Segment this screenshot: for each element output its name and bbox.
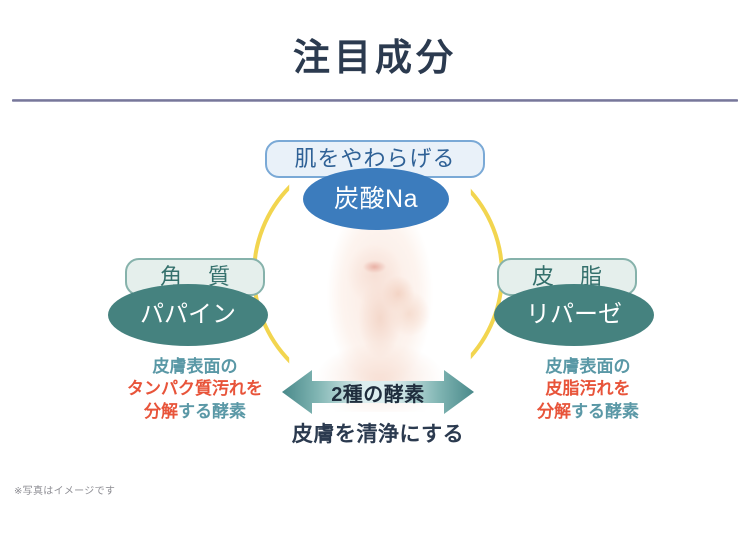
description-left-line2: タンパク質汚れを (105, 378, 285, 400)
description-left-line3-rest: する酵素 (178, 402, 246, 421)
ingredients-diagram: 肌をやわらげる 炭酸Na 角 質 パパイン 皮膚表面の タンパク質汚れを 分解す… (0, 118, 750, 478)
description-right-line1: 皮膚表面の (498, 356, 678, 378)
description-right-line3-highlight: 分解 (537, 402, 571, 421)
description-left-line3-highlight: 分解 (144, 402, 178, 421)
node-lipase: リパーゼ (494, 284, 654, 346)
footnote-photo-image: ※写真はイメージです (14, 482, 115, 497)
slide-canvas: 注目成分 肌をやわらげる 炭酸Na 角 質 パパイン 皮膚表面の タンパク質汚れ… (0, 0, 750, 534)
node-papain: パパイン (108, 284, 268, 346)
description-right-line3: 分解する酵素 (498, 401, 678, 423)
description-left-line1: 皮膚表面の (105, 356, 285, 378)
node-sodium-carbonate: 炭酸Na (303, 168, 449, 230)
description-right-line2: 皮脂汚れを (498, 378, 678, 400)
page-title: 注目成分 (0, 38, 750, 79)
description-right: 皮膚表面の 皮脂汚れを 分解する酵素 (498, 356, 678, 423)
diagram-caption: 皮膚を清浄にする (252, 418, 504, 448)
description-left: 皮膚表面の タンパク質汚れを 分解する酵素 (105, 356, 285, 423)
description-right-line3-rest: する酵素 (571, 402, 639, 421)
title-divider (12, 99, 738, 102)
arrow-label-two-enzymes: 2種の酵素 (282, 370, 474, 414)
